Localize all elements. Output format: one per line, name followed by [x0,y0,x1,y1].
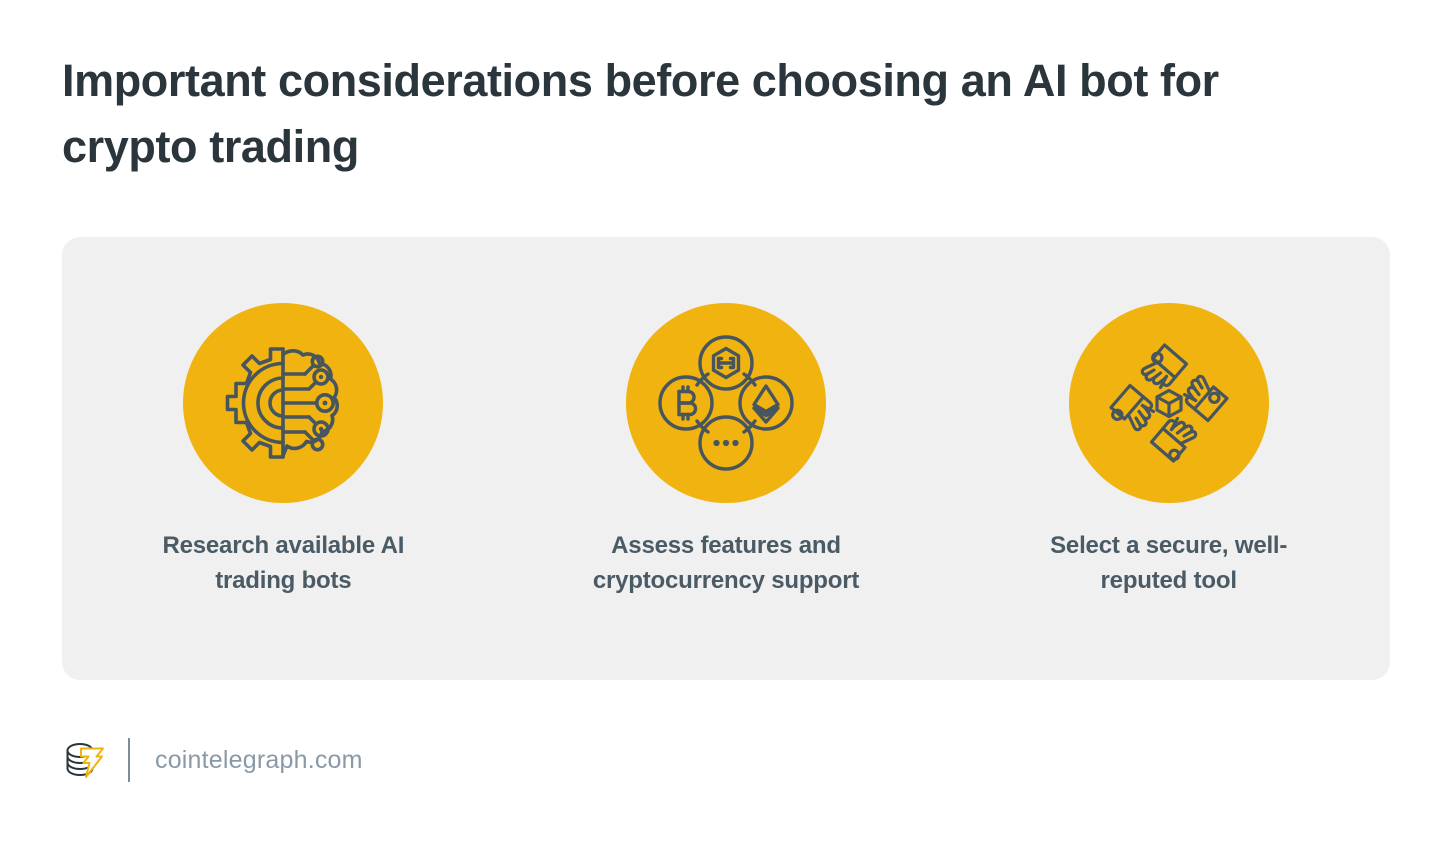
consideration-item-2: Assess features and cryptocurrency suppo… [505,237,948,598]
four-hands-cube-icon [1098,332,1240,474]
consideration-caption-2: Assess features and cryptocurrency suppo… [561,528,891,598]
cointelegraph-logo-icon[interactable] [62,737,108,783]
content-panel: Research available AI trading bots [62,237,1390,680]
infographic-canvas: Important considerations before choosing… [0,0,1450,842]
icon-badge-3 [1069,303,1269,503]
page-title: Important considerations before choosing… [62,48,1402,180]
consideration-caption-3: Select a secure, well- reputed tool [1004,528,1334,598]
consideration-item-3: Select a secure, well- reputed tool [947,237,1390,598]
consideration-item-1: Research available AI trading bots [62,237,505,598]
icon-badge-2 [626,303,826,503]
ai-brain-gear-icon [217,337,349,469]
footer-site-label[interactable]: cointelegraph.com [155,746,363,775]
footer-divider [128,738,130,782]
consideration-columns: Research available AI trading bots [62,237,1390,680]
crypto-coins-network-icon [656,333,796,473]
icon-badge-1 [183,303,383,503]
footer: cointelegraph.com [62,730,363,790]
consideration-caption-1: Research available AI trading bots [118,528,448,598]
